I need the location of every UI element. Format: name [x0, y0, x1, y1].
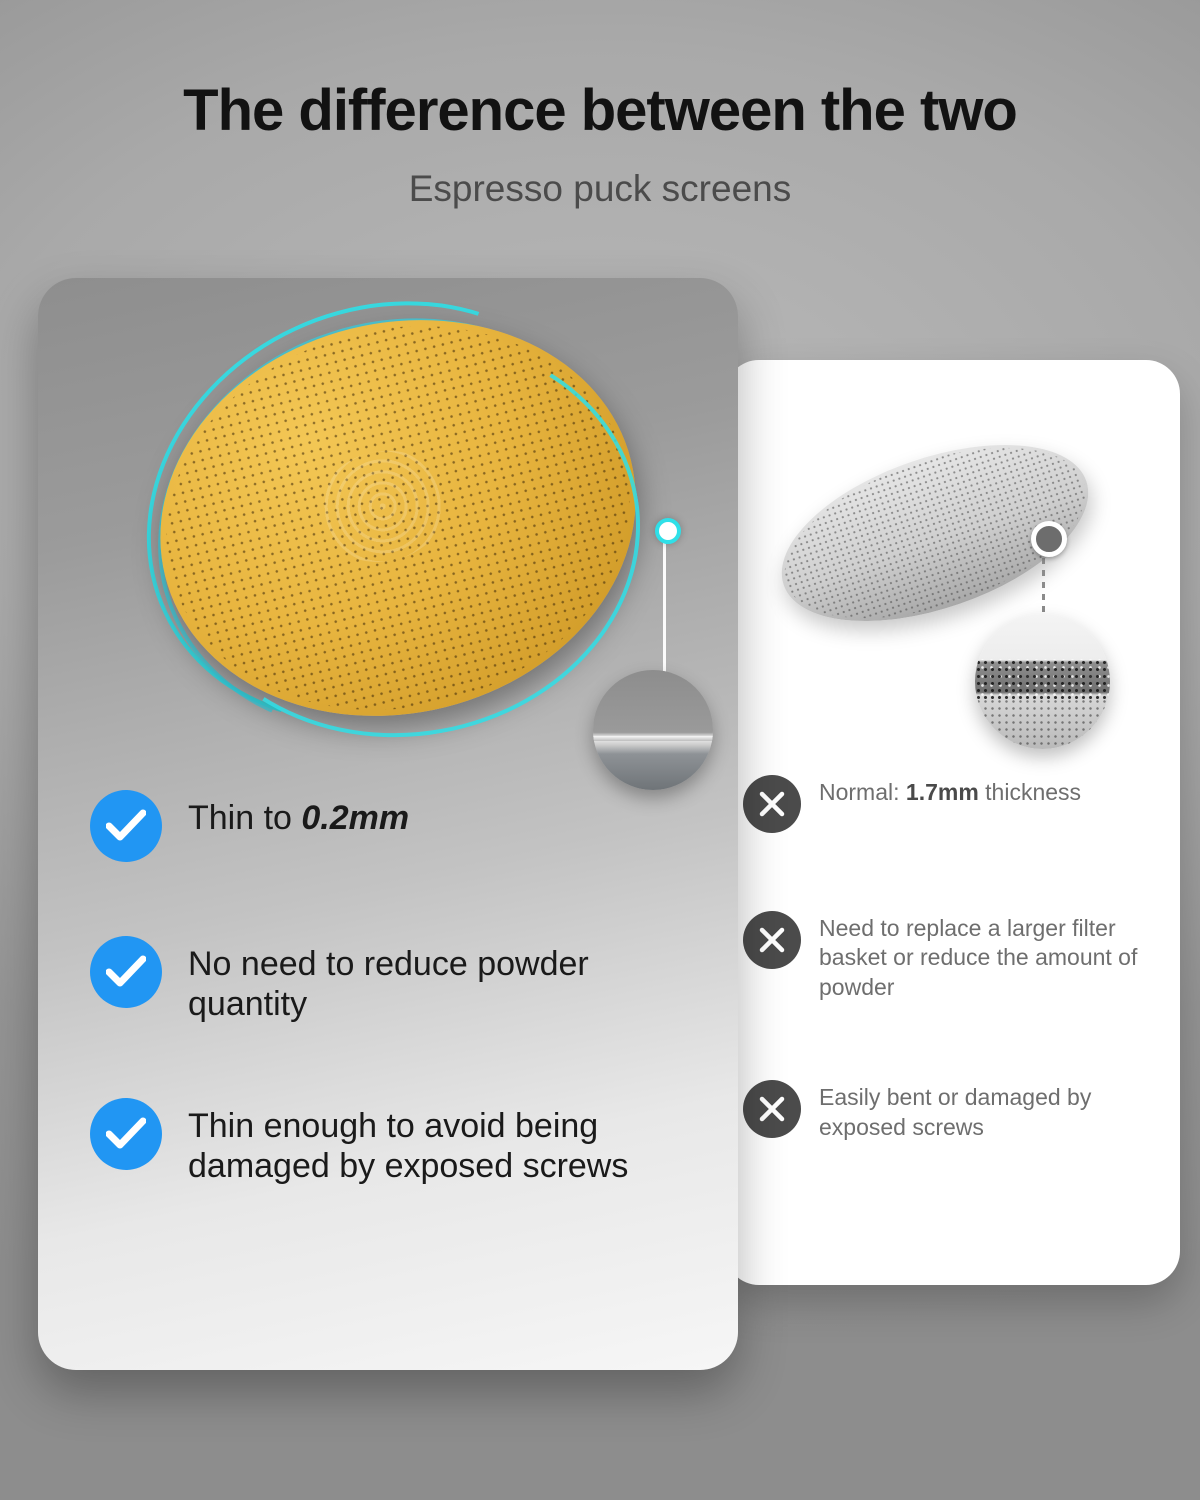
list-item: Normal: 1.7mm thickness: [743, 775, 1173, 833]
check-icon: [90, 936, 162, 1008]
text-part-2: thickness: [979, 779, 1081, 805]
list-item-text: Thin to 0.2mm: [188, 790, 409, 838]
cross-icon: [743, 1080, 801, 1138]
infographic-page: The difference between the two Espresso …: [0, 0, 1200, 1500]
callout-dot-left: [655, 518, 681, 544]
callout-line-left: [663, 536, 666, 688]
page-title: The difference between the two: [0, 0, 1200, 140]
zoom-grain-texture: [975, 659, 1110, 700]
list-item-text: Thin enough to avoid being damaged by ex…: [188, 1098, 708, 1186]
zoom-mesh-texture: [975, 698, 1110, 749]
callout-line-right: [1042, 546, 1045, 624]
feature-list-left: Thin to 0.2mm No need to reduce powder q…: [90, 790, 730, 1260]
feature-list-right: Normal: 1.7mm thickness Need to replace …: [743, 775, 1173, 1220]
gold-puck-screen-illustration: [133, 298, 653, 728]
silver-puck-screen-illustration: [765, 418, 1145, 718]
comparison-card-right: Normal: 1.7mm thickness Need to replace …: [725, 360, 1180, 1285]
zoom-detail-right: [975, 614, 1110, 749]
list-item: Thin to 0.2mm: [90, 790, 730, 862]
text-bold: 1.7mm: [906, 779, 979, 805]
check-icon: [90, 790, 162, 862]
list-item-text: No need to reduce powder quantity: [188, 936, 708, 1024]
text-part-1: Thin to: [188, 799, 301, 837]
zoom-thin-edge: [593, 736, 713, 741]
check-icon: [90, 1098, 162, 1170]
list-item: Need to replace a larger filter basket o…: [743, 911, 1173, 1002]
cross-icon: [743, 911, 801, 969]
page-subtitle: Espresso puck screens: [0, 140, 1200, 210]
text-bold: 0.2mm: [301, 799, 409, 837]
list-item-text: Easily bent or damaged by exposed screws: [819, 1080, 1149, 1142]
list-item-text: Normal: 1.7mm thickness: [819, 775, 1081, 807]
callout-dot-right: [1031, 521, 1067, 557]
list-item: Easily bent or damaged by exposed screws: [743, 1080, 1173, 1142]
zoom-detail-left: [593, 670, 713, 790]
cross-icon: [743, 775, 801, 833]
text-part-1: Normal:: [819, 779, 906, 805]
list-item: No need to reduce powder quantity: [90, 936, 730, 1024]
header: The difference between the two Espresso …: [0, 0, 1200, 210]
list-item: Thin enough to avoid being damaged by ex…: [90, 1098, 730, 1186]
cyan-swoosh-icon: [142, 300, 672, 773]
list-item-text: Need to replace a larger filter basket o…: [819, 911, 1149, 1002]
comparison-card-left: Thin to 0.2mm No need to reduce powder q…: [38, 278, 738, 1370]
